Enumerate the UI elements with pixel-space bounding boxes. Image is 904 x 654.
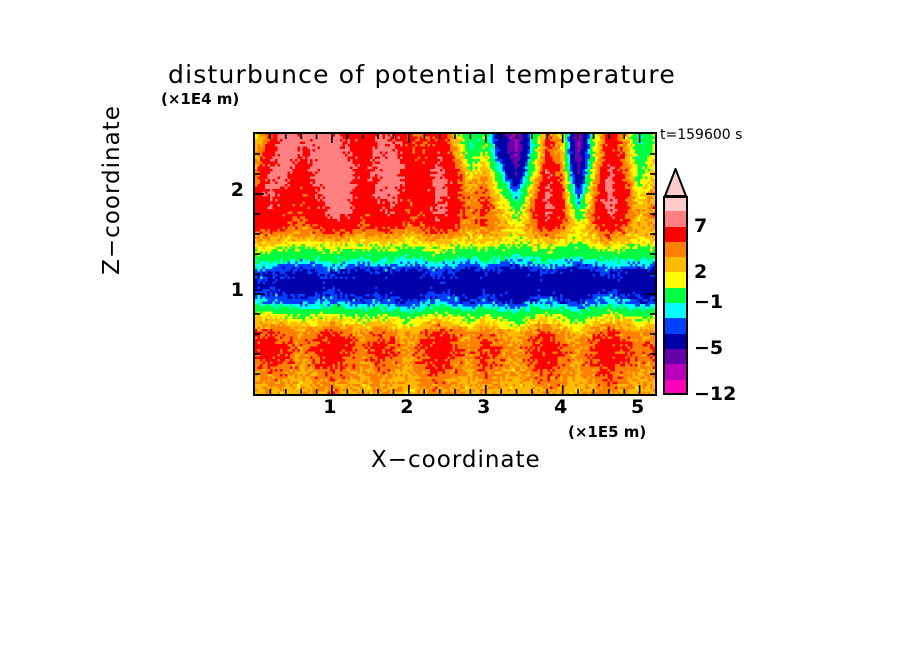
figure-canvas: disturbunce of potential temperature (×1…	[0, 0, 904, 654]
x-axis-unit-label: (×1E5 m)	[568, 423, 646, 441]
figure-title: disturbunce of potential temperature	[168, 60, 676, 89]
colorbar-band-yellow	[663, 272, 688, 287]
y-axis-title: Z−coordinate	[99, 90, 125, 290]
z-axis-unit-label: (×1E4 m)	[161, 90, 239, 108]
colorbar-band-blue	[663, 318, 688, 333]
colorbar-band-cyan	[663, 303, 688, 318]
colorbar-band-purple	[663, 349, 688, 364]
contour-field	[255, 134, 655, 394]
x-tick-label: 2	[392, 396, 422, 418]
x-axis-title: X−coordinate	[371, 447, 541, 473]
colorbar-arrow-cap	[663, 168, 688, 197]
colorbar-band-red	[663, 227, 688, 242]
colorbar-band-navy	[663, 334, 688, 349]
colorbar-band-magenta	[663, 380, 688, 395]
colorbar-band-amber	[663, 257, 688, 272]
colorbar-band-green	[663, 288, 688, 303]
x-tick-label: 4	[546, 396, 576, 418]
x-tick-label: 1	[315, 396, 345, 418]
colorbar[interactable]	[663, 196, 688, 395]
colorbar-tick-label: −12	[694, 383, 736, 405]
colorbar-tick-label: 2	[694, 261, 707, 283]
colorbar-tick-label: 7	[694, 215, 707, 237]
time-stamp-label: t=159600 s	[660, 127, 742, 143]
colorbar-tick-label: −1	[694, 291, 723, 313]
contour-plot-area[interactable]	[253, 132, 657, 396]
colorbar-tick-label: −5	[694, 337, 723, 359]
y-tick-label: 2	[214, 179, 244, 201]
y-tick-label: 1	[214, 279, 244, 301]
colorbar-band-light-pink	[663, 196, 688, 211]
colorbar-band-salmon	[663, 211, 688, 226]
colorbar-band-orange	[663, 242, 688, 257]
x-tick-label: 3	[469, 396, 499, 418]
x-tick-label: 5	[623, 396, 653, 418]
colorbar-band-magenta-purple	[663, 364, 688, 379]
